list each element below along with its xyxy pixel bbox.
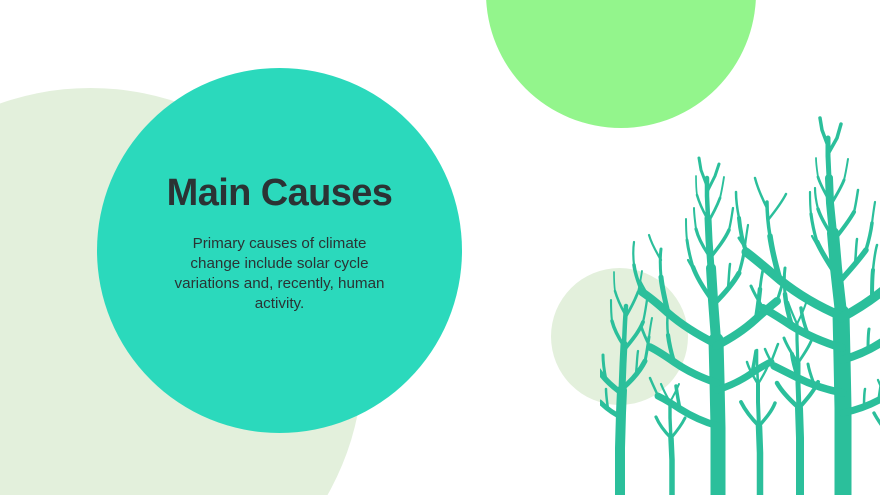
green-circle-top-right [486, 0, 756, 128]
slide-description: Primary causes of climate change include… [172, 234, 387, 314]
slide-canvas: Main Causes Primary causes of climate ch… [0, 0, 880, 495]
pale-green-circle-right [551, 268, 688, 405]
page-title: Main Causes [97, 170, 462, 216]
headline-block: Main Causes Primary causes of climate ch… [97, 170, 462, 314]
